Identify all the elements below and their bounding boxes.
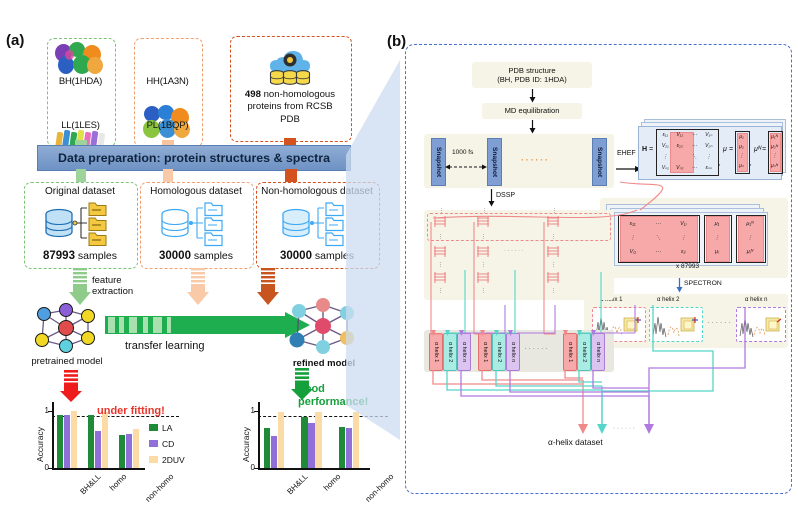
y-axis — [52, 402, 54, 468]
data-preparation-bar: Data preparation: protein structures & s… — [37, 145, 351, 171]
dataset-unit-original: samples — [78, 250, 117, 262]
striped-arrow-green — [68, 268, 92, 306]
database-folder-icon-original — [39, 200, 119, 248]
legend-label: CD — [162, 439, 174, 449]
striped-arrow-peach — [186, 268, 210, 306]
bar — [64, 415, 70, 468]
bar — [126, 434, 132, 468]
bar — [301, 417, 307, 468]
bar — [119, 435, 125, 468]
bar — [271, 436, 277, 468]
bar — [133, 429, 139, 468]
feature-extraction-label: featureextraction — [92, 276, 133, 298]
alpha-helix-dataset-label: α-helix dataset — [548, 437, 603, 447]
legend-swatch — [149, 424, 158, 431]
underfitting-annotation: under fitting! — [97, 405, 165, 417]
zoom-cone — [340, 60, 410, 440]
dataset-unit-homologous: samples — [194, 250, 233, 262]
legend-swatch — [149, 456, 158, 463]
dataset-count-nonhomologous: 30000 — [280, 250, 312, 262]
x-tick-label: homo — [322, 472, 343, 493]
bar — [57, 415, 63, 468]
x-tick-label: homo — [108, 472, 129, 493]
caption-bh1hda: BH(1HDA) — [47, 76, 114, 87]
pretrained-model-label: pretrained model — [22, 356, 112, 367]
y-tick-label: 0 — [37, 463, 49, 472]
rcsb-text-line3: PDB — [280, 114, 300, 125]
protein-structure-bh1hda — [53, 41, 109, 76]
dataset-count-homologous: 30000 — [159, 250, 191, 262]
transfer-learning-arrow — [105, 312, 310, 338]
bar — [95, 431, 101, 468]
legend-swatch — [149, 440, 158, 447]
rcsb-text-line2: proteins from RCSB — [247, 101, 332, 112]
y-tick-label: 1 — [243, 406, 255, 415]
y-axis-label: Accuracy — [35, 427, 45, 462]
x-axis — [258, 468, 370, 470]
bar — [71, 411, 77, 468]
bar — [88, 415, 94, 468]
x-tick-label: BH&LL — [79, 472, 103, 496]
y-axis — [258, 402, 260, 468]
x-tick-label: non-homo — [364, 472, 396, 504]
svg-text:······: ······ — [613, 425, 637, 432]
x-axis — [52, 468, 145, 470]
md-equilibration-box: MD equilibration — [482, 103, 582, 119]
bar — [315, 412, 321, 468]
bar — [264, 428, 270, 468]
bar — [308, 423, 314, 468]
caption-pl1bqp: PL(1BQP) — [134, 120, 201, 131]
bar — [278, 412, 284, 468]
rcsb-count: 498 — [245, 89, 261, 100]
panel-a-label: (a) — [6, 32, 24, 49]
pretrained-model-network — [32, 302, 100, 356]
bar — [102, 412, 108, 468]
panel-b-label: (b) — [387, 33, 406, 50]
connector-lines: ······ — [405, 130, 790, 470]
transfer-learning-label: transfer learning — [125, 340, 205, 352]
x-tick-label: non-homo — [144, 472, 176, 504]
cloud-database-icon — [265, 42, 315, 88]
y-tick-label: 1 — [37, 406, 49, 415]
legend-label: LA — [162, 423, 172, 433]
rcsb-text-line1: non-homologous — [264, 89, 335, 100]
dataset-count-original: 87993 — [43, 250, 75, 262]
striped-arrow-darkorange — [256, 268, 280, 306]
y-axis-label: Accuracy — [241, 427, 251, 462]
database-folder-icon-homologous — [155, 200, 235, 248]
dataset-title-original: Original dataset — [24, 186, 136, 197]
legend-label: 2DUV — [162, 455, 185, 465]
dataset-title-homologous: Homologous dataset — [140, 186, 252, 197]
pdb-structure-box: PDB structure(BH, PDB ID: 1HDA) — [472, 62, 592, 88]
y-tick-label: 0 — [243, 463, 255, 472]
x-tick-label: BH&LL — [286, 472, 310, 496]
caption-ll1les: LL(1LES) — [47, 120, 114, 131]
caption-hh1a3n: HH(1A3N) — [134, 76, 201, 87]
